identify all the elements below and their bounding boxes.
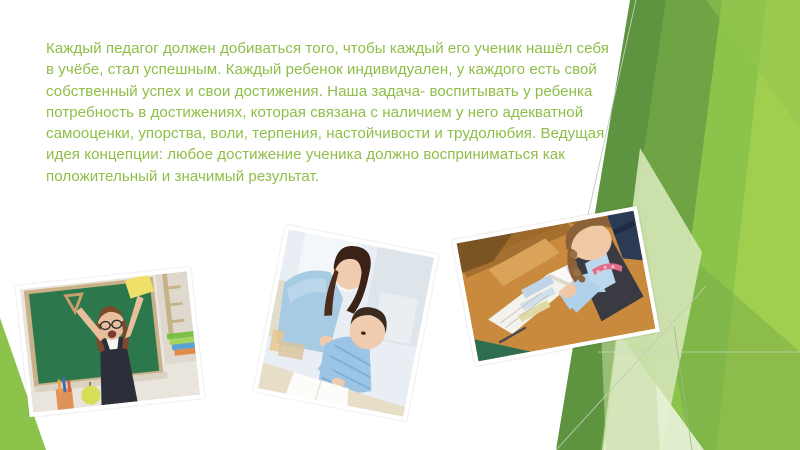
- photo-tutoring-image: [258, 229, 434, 416]
- photo-classroom[interactable]: [15, 267, 204, 417]
- facet-wedge-right-lightlime: [716, 0, 800, 450]
- presentation-slide: Каждый педагог должен добиваться того, ч…: [0, 0, 800, 450]
- photo-reading[interactable]: [452, 206, 660, 366]
- facet-hairline-vertical: [674, 326, 692, 450]
- facet-wedge-right-lime: [664, 0, 800, 450]
- photo-reading-image: [457, 211, 656, 362]
- facet-pale-blade-lower: [604, 332, 704, 450]
- facet-sheen-upper: [706, 0, 800, 128]
- photo-classroom-image: [20, 271, 200, 412]
- apple-stem: [89, 382, 90, 386]
- photo-tutoring[interactable]: [253, 225, 439, 422]
- facet-sheen-lower: [642, 214, 800, 450]
- slide-body-text: Каждый педагог должен добиваться того, ч…: [46, 38, 612, 187]
